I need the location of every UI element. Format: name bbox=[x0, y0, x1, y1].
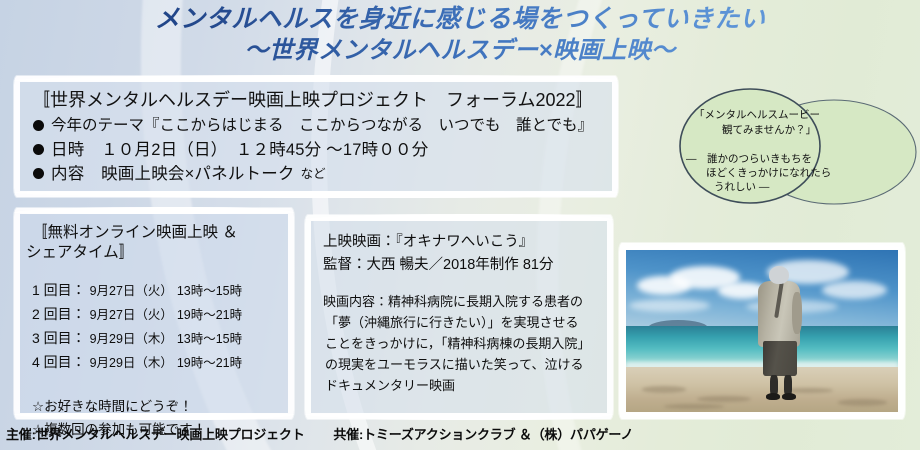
film-description-line: ドキュメンタリー映画 bbox=[323, 375, 599, 396]
session-time: 13時～15時 bbox=[177, 284, 242, 298]
bubble-line-2: 観てみませんか？」 bbox=[722, 123, 816, 139]
film-title-line: 上映映画：『オキナワへいこう』 bbox=[323, 231, 599, 254]
page-title: メンタルヘルスを身近に感じる場をつくっていきたい ～世界メンタルヘルスデー×映画… bbox=[0, 4, 920, 66]
title-line-1: メンタルヘルスを身近に感じる場をつくっていきたい bbox=[0, 4, 920, 35]
list-item: 3 回目： 9月29日（木） 13時～15時 bbox=[32, 327, 280, 351]
session-date: 9月27日（火） bbox=[90, 308, 173, 322]
session-time: 19時～21時 bbox=[177, 308, 242, 322]
forum-bullet-datetime: 日時 １０月2日（日） １２時45分 ～17時００分 bbox=[32, 138, 602, 162]
session-date: 9月29日（木） bbox=[90, 356, 173, 370]
online-heading-line-1: 〚無料オンライン映画上映 ＆ bbox=[32, 224, 238, 241]
photo-sand-texture bbox=[642, 386, 686, 392]
film-description-line: 映画内容：精神科病院に長期入院する患者の bbox=[323, 291, 599, 312]
online-screening-heading: 〚無料オンライン映画上映 ＆ シェアタイム〛 bbox=[32, 223, 280, 263]
session-time: 19時～21時 bbox=[177, 356, 242, 370]
photo-cloud bbox=[822, 281, 887, 299]
bubble-text-group: 「メンタルヘルスムービー 観てみませんか？」 ― 誰かのつらいきもちを ほどくき… bbox=[676, 86, 920, 208]
bubble-line-1: 「メンタルヘルスムービー bbox=[694, 108, 820, 124]
photo-sand-texture bbox=[838, 399, 887, 405]
film-description-line: 「夢（沖縄旅行に行きたい）」を実現させる bbox=[323, 312, 599, 333]
forum-bullet-theme: 今年のテーマ『ここからはじまる ここからつながる いつでも 誰とでも』 bbox=[32, 114, 602, 138]
photo-sand-texture bbox=[664, 404, 724, 409]
session-date: 9月29日（木） bbox=[90, 332, 173, 346]
movie-invitation-bubble: 「メンタルヘルスムービー 観てみませんか？」 ― 誰かのつらいきもちを ほどくき… bbox=[676, 86, 920, 208]
forum-bullet-content-label: 内容 映画上映会×パネルトーク bbox=[51, 162, 295, 186]
forum-bullet-theme-label: 今年のテーマ『ここからはじまる ここからつながる いつでも 誰とでも』 bbox=[51, 114, 593, 138]
forum-bullet-datetime-label: 日時 １０月2日（日） １２時45分 ～17時００分 bbox=[51, 138, 428, 162]
session-number: 3 回目： bbox=[32, 330, 86, 346]
film-detail-panel: 上映映画：『オキナワへいこう』 監督：大西 暢夫／2018年制作 81分 映画内… bbox=[305, 215, 613, 419]
footer-organizer: 主催:世界メンタルヘルスデー映画上映プロジェクト bbox=[6, 427, 305, 442]
list-item: 4 回目： 9月29日（木） 19時～21時 bbox=[32, 351, 280, 375]
list-item: 2 回目： 9月27日（火） 19時～21時 bbox=[32, 303, 280, 327]
bullet-dot-icon bbox=[33, 168, 44, 179]
photo-figure-shoe bbox=[766, 393, 780, 399]
photo-cloud bbox=[629, 299, 711, 312]
online-schedule-list: 1 回目： 9月27日（火） 13時～15時 2 回目： 9月27日（火） 19… bbox=[32, 279, 280, 375]
beach-photo-image bbox=[626, 250, 898, 412]
film-director-line: 監督：大西 暢夫／2018年制作 81分 bbox=[323, 254, 599, 277]
session-number: 2 回目： bbox=[32, 306, 86, 322]
forum-info-panel: 〚世界メンタルヘルスデー映画上映プロジェクト フォーラム2022〛 今年のテーマ… bbox=[14, 76, 618, 197]
photo-figure-skirt bbox=[763, 341, 797, 377]
session-time: 13時～15時 bbox=[177, 332, 242, 346]
forum-bullet-content-suffix: など bbox=[295, 162, 326, 186]
forum-bullet-content: 内容 映画上映会×パネルトーク など bbox=[32, 162, 602, 186]
list-item: 1 回目： 9月27日（火） 13時～15時 bbox=[32, 279, 280, 303]
photo-figure-shoe bbox=[782, 393, 796, 399]
forum-heading: 〚世界メンタルヘルスデー映画上映プロジェクト フォーラム2022〛 bbox=[32, 89, 602, 112]
photo-figure-arm bbox=[792, 292, 802, 334]
note-item: ☆お好きな時間にどうぞ！ bbox=[32, 395, 280, 418]
bullet-dot-icon bbox=[33, 144, 44, 155]
online-heading-line-2: シェアタイム〛 bbox=[26, 243, 280, 263]
poster-canvas: メンタルヘルスを身近に感じる場をつくっていきたい ～世界メンタルヘルスデー×映画… bbox=[0, 0, 920, 450]
session-number: 1 回目： bbox=[32, 282, 86, 298]
session-date: 9月27日（火） bbox=[90, 284, 173, 298]
film-description-line: ことをきっかけに，「精神科病棟の長期入院」 bbox=[323, 333, 599, 354]
session-number: 4 回目： bbox=[32, 354, 86, 370]
photo-figure-head bbox=[769, 266, 789, 284]
beach-photo-frame bbox=[619, 243, 905, 419]
footer-credits: 主催:世界メンタルヘルスデー映画上映プロジェクト 共催:トミーズアクションクラブ… bbox=[6, 424, 633, 443]
footer-co-organizer: 共催:トミーズアクションクラブ ＆（株）パパゲーノ bbox=[333, 427, 633, 442]
online-screening-panel: 〚無料オンライン映画上映 ＆ シェアタイム〛 1 回目： 9月27日（火） 13… bbox=[14, 208, 294, 419]
bubble-line-5: うれしい ― bbox=[714, 180, 769, 196]
film-description-line: の現実をユーモラスに描いた笑って、泣ける bbox=[323, 354, 599, 375]
film-description: 映画内容：精神科病院に長期入院する患者の 「夢（沖縄旅行に行きたい）」を実現させ… bbox=[323, 291, 599, 396]
title-line-2: ～世界メンタルヘルスデー×映画上映～ bbox=[0, 35, 920, 66]
bullet-dot-icon bbox=[33, 120, 44, 131]
